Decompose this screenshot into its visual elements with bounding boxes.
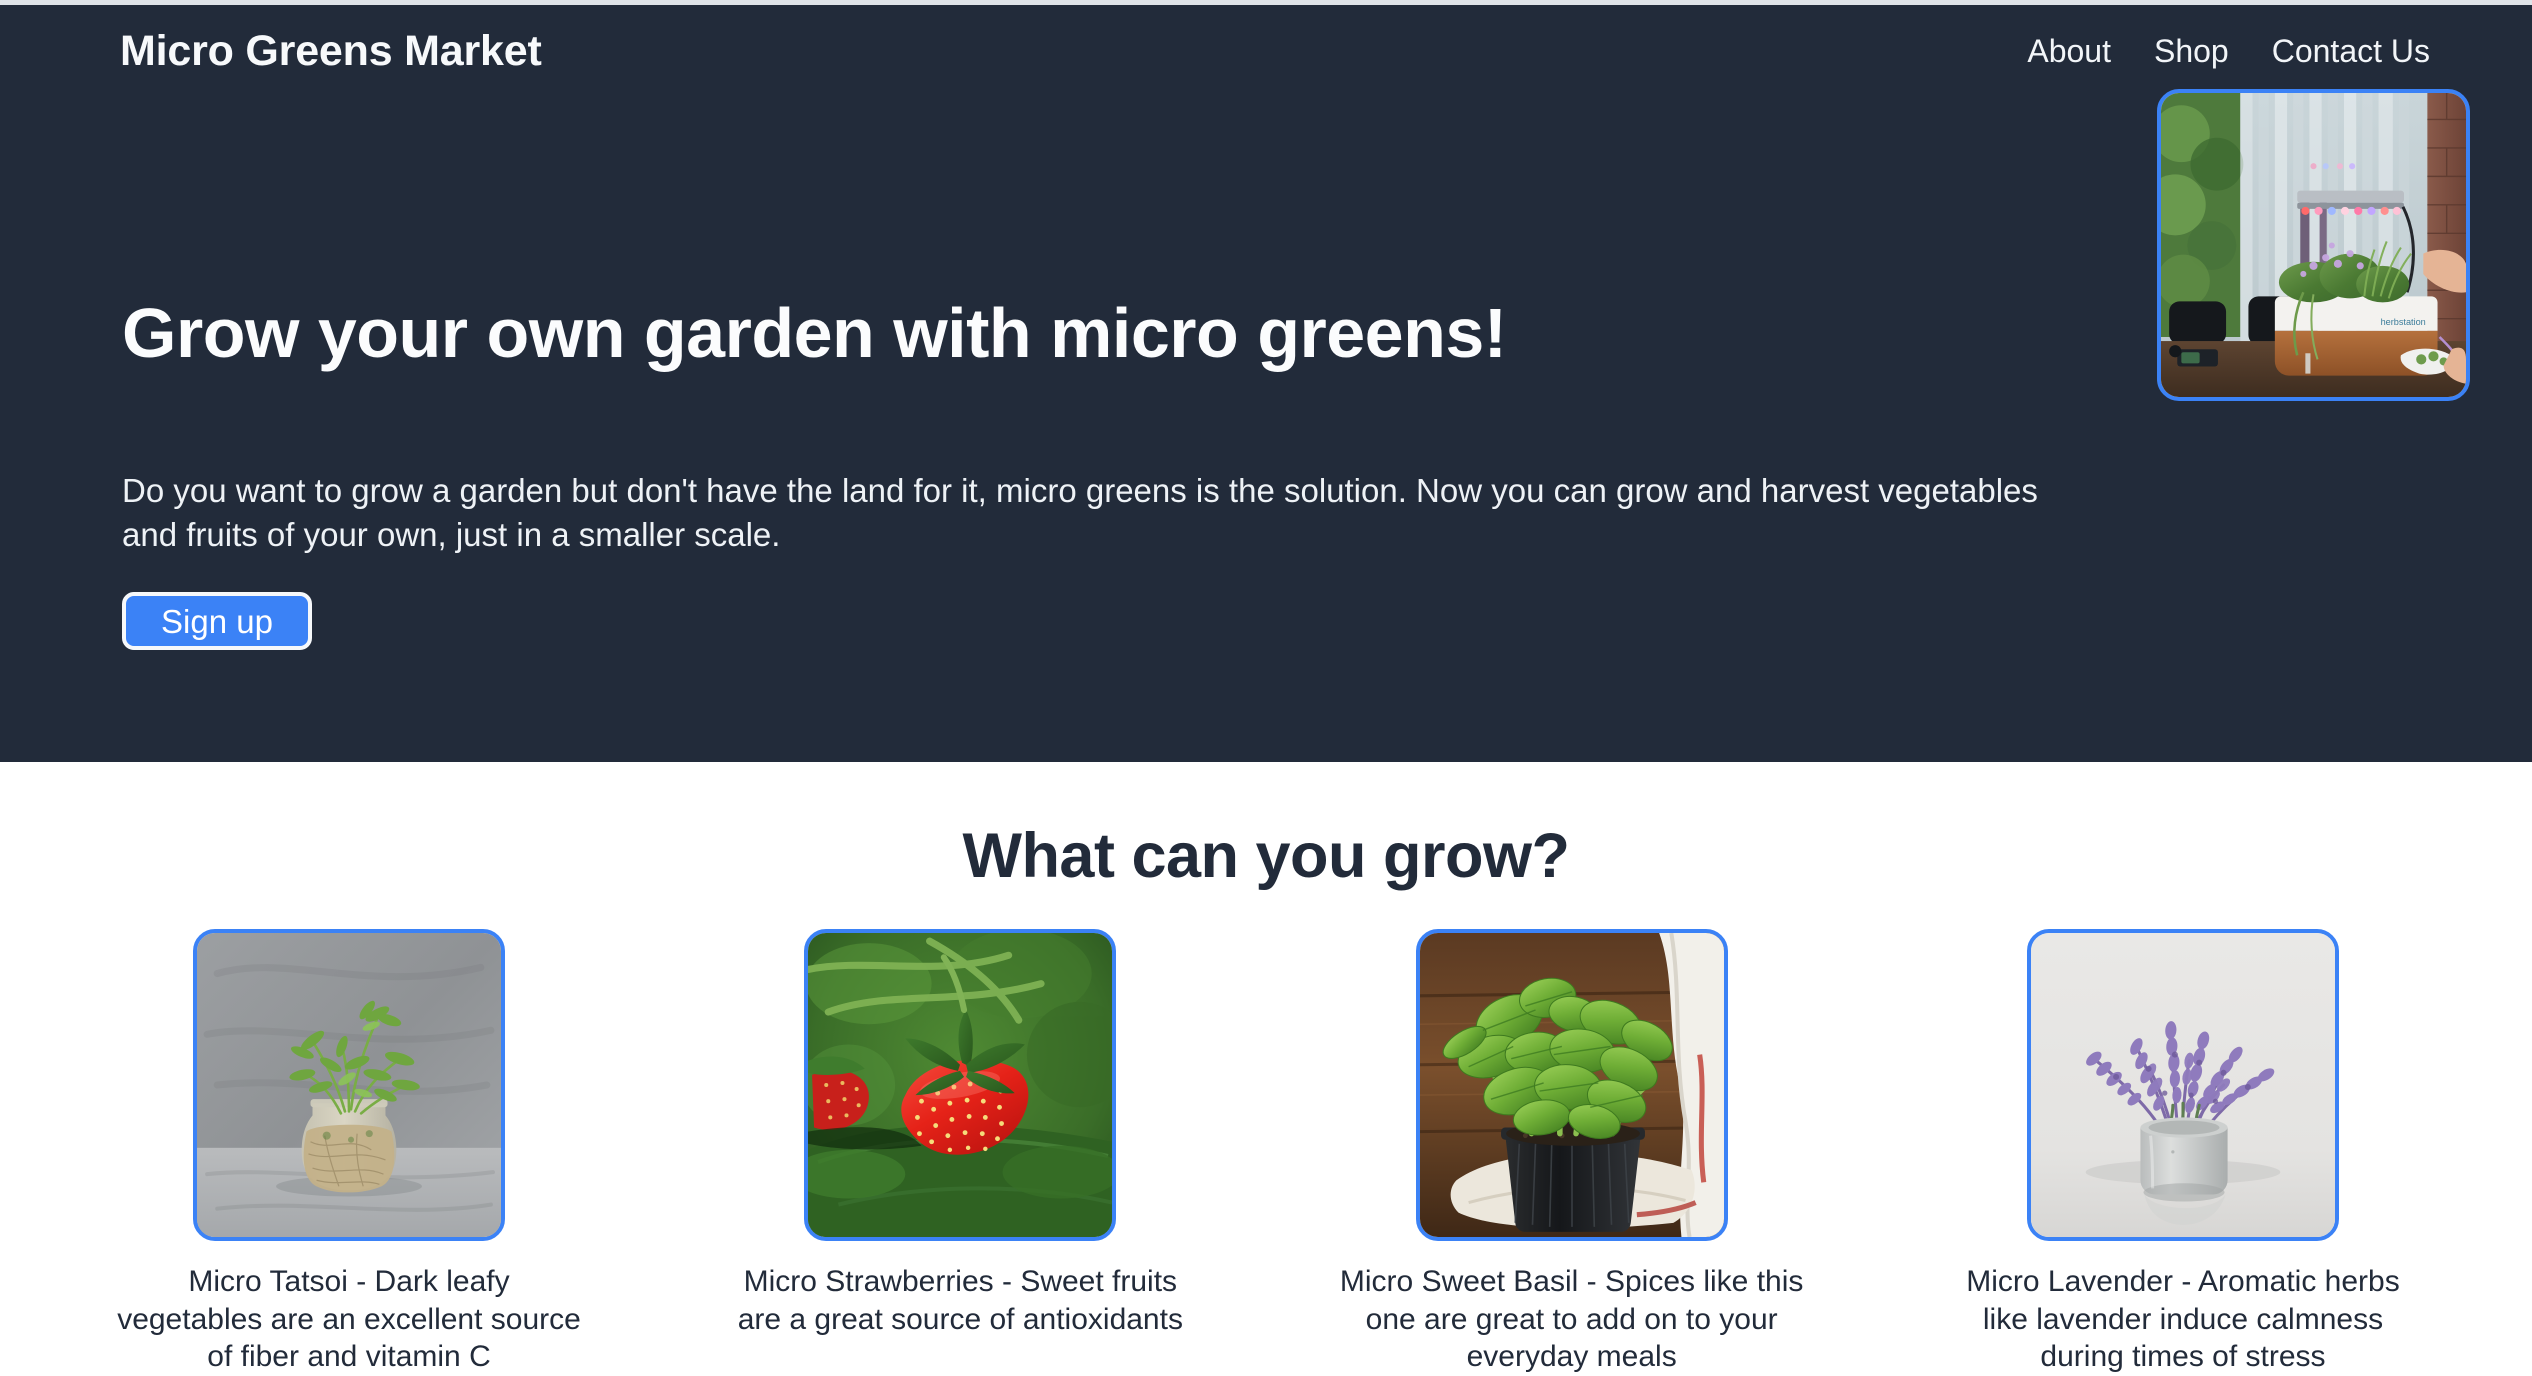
card-caption: Micro Tatsoi - Dark leafy vegetables are…: [114, 1263, 584, 1376]
nav-link-contact-us[interactable]: Contact Us: [2272, 35, 2430, 67]
micro-tatsoi-image[interactable]: [193, 929, 505, 1241]
site-brand-title: Micro Greens Market: [120, 30, 542, 73]
nav-link-about[interactable]: About: [2027, 35, 2111, 67]
hero-product-image: herbstation: [2157, 89, 2470, 401]
product-card-micro-strawberries: Micro Strawberries - Sweet fruits are a …: [721, 929, 1199, 1376]
card-caption: Micro Strawberries - Sweet fruits are a …: [725, 1263, 1195, 1338]
top-navigation-bar: Micro Greens Market About Shop Contact U…: [0, 5, 2532, 97]
hero-content: Grow your own garden with micro greens! …: [0, 97, 2532, 762]
card-caption: Micro Sweet Basil - Spices like this one…: [1337, 1263, 1807, 1376]
product-card-micro-tatsoi: Micro Tatsoi - Dark leafy vegetables are…: [110, 929, 588, 1376]
section-heading: What can you grow?: [0, 762, 2532, 891]
sign-up-button[interactable]: Sign up: [122, 592, 312, 650]
product-card-micro-lavender: Micro Lavender - Aromatic herbs like lav…: [1944, 929, 2422, 1376]
what-can-you-grow-section: What can you grow?: [0, 762, 2532, 1368]
landing-page: Micro Greens Market About Shop Contact U…: [0, 0, 2532, 1368]
micro-sweet-basil-image[interactable]: [1416, 929, 1728, 1241]
nav-link-shop[interactable]: Shop: [2154, 35, 2229, 67]
micro-strawberries-image[interactable]: [804, 929, 1116, 1241]
card-caption: Micro Lavender - Aromatic herbs like lav…: [1948, 1263, 2418, 1376]
product-card-grid: Micro Tatsoi - Dark leafy vegetables are…: [0, 891, 2532, 1376]
nav-links-group: About Shop Contact Us: [2027, 35, 2430, 67]
hero-headline: Grow your own garden with micro greens!: [122, 297, 2120, 371]
product-card-micro-sweet-basil: Micro Sweet Basil - Spices like this one…: [1333, 929, 1811, 1376]
svg-text:herbstation: herbstation: [2381, 317, 2426, 327]
hero-description: Do you want to grow a garden but don't h…: [122, 469, 2062, 559]
hero-copy-block: Grow your own garden with micro greens! …: [0, 97, 2120, 650]
micro-lavender-image[interactable]: [2027, 929, 2339, 1241]
hero-section: Micro Greens Market About Shop Contact U…: [0, 5, 2532, 762]
